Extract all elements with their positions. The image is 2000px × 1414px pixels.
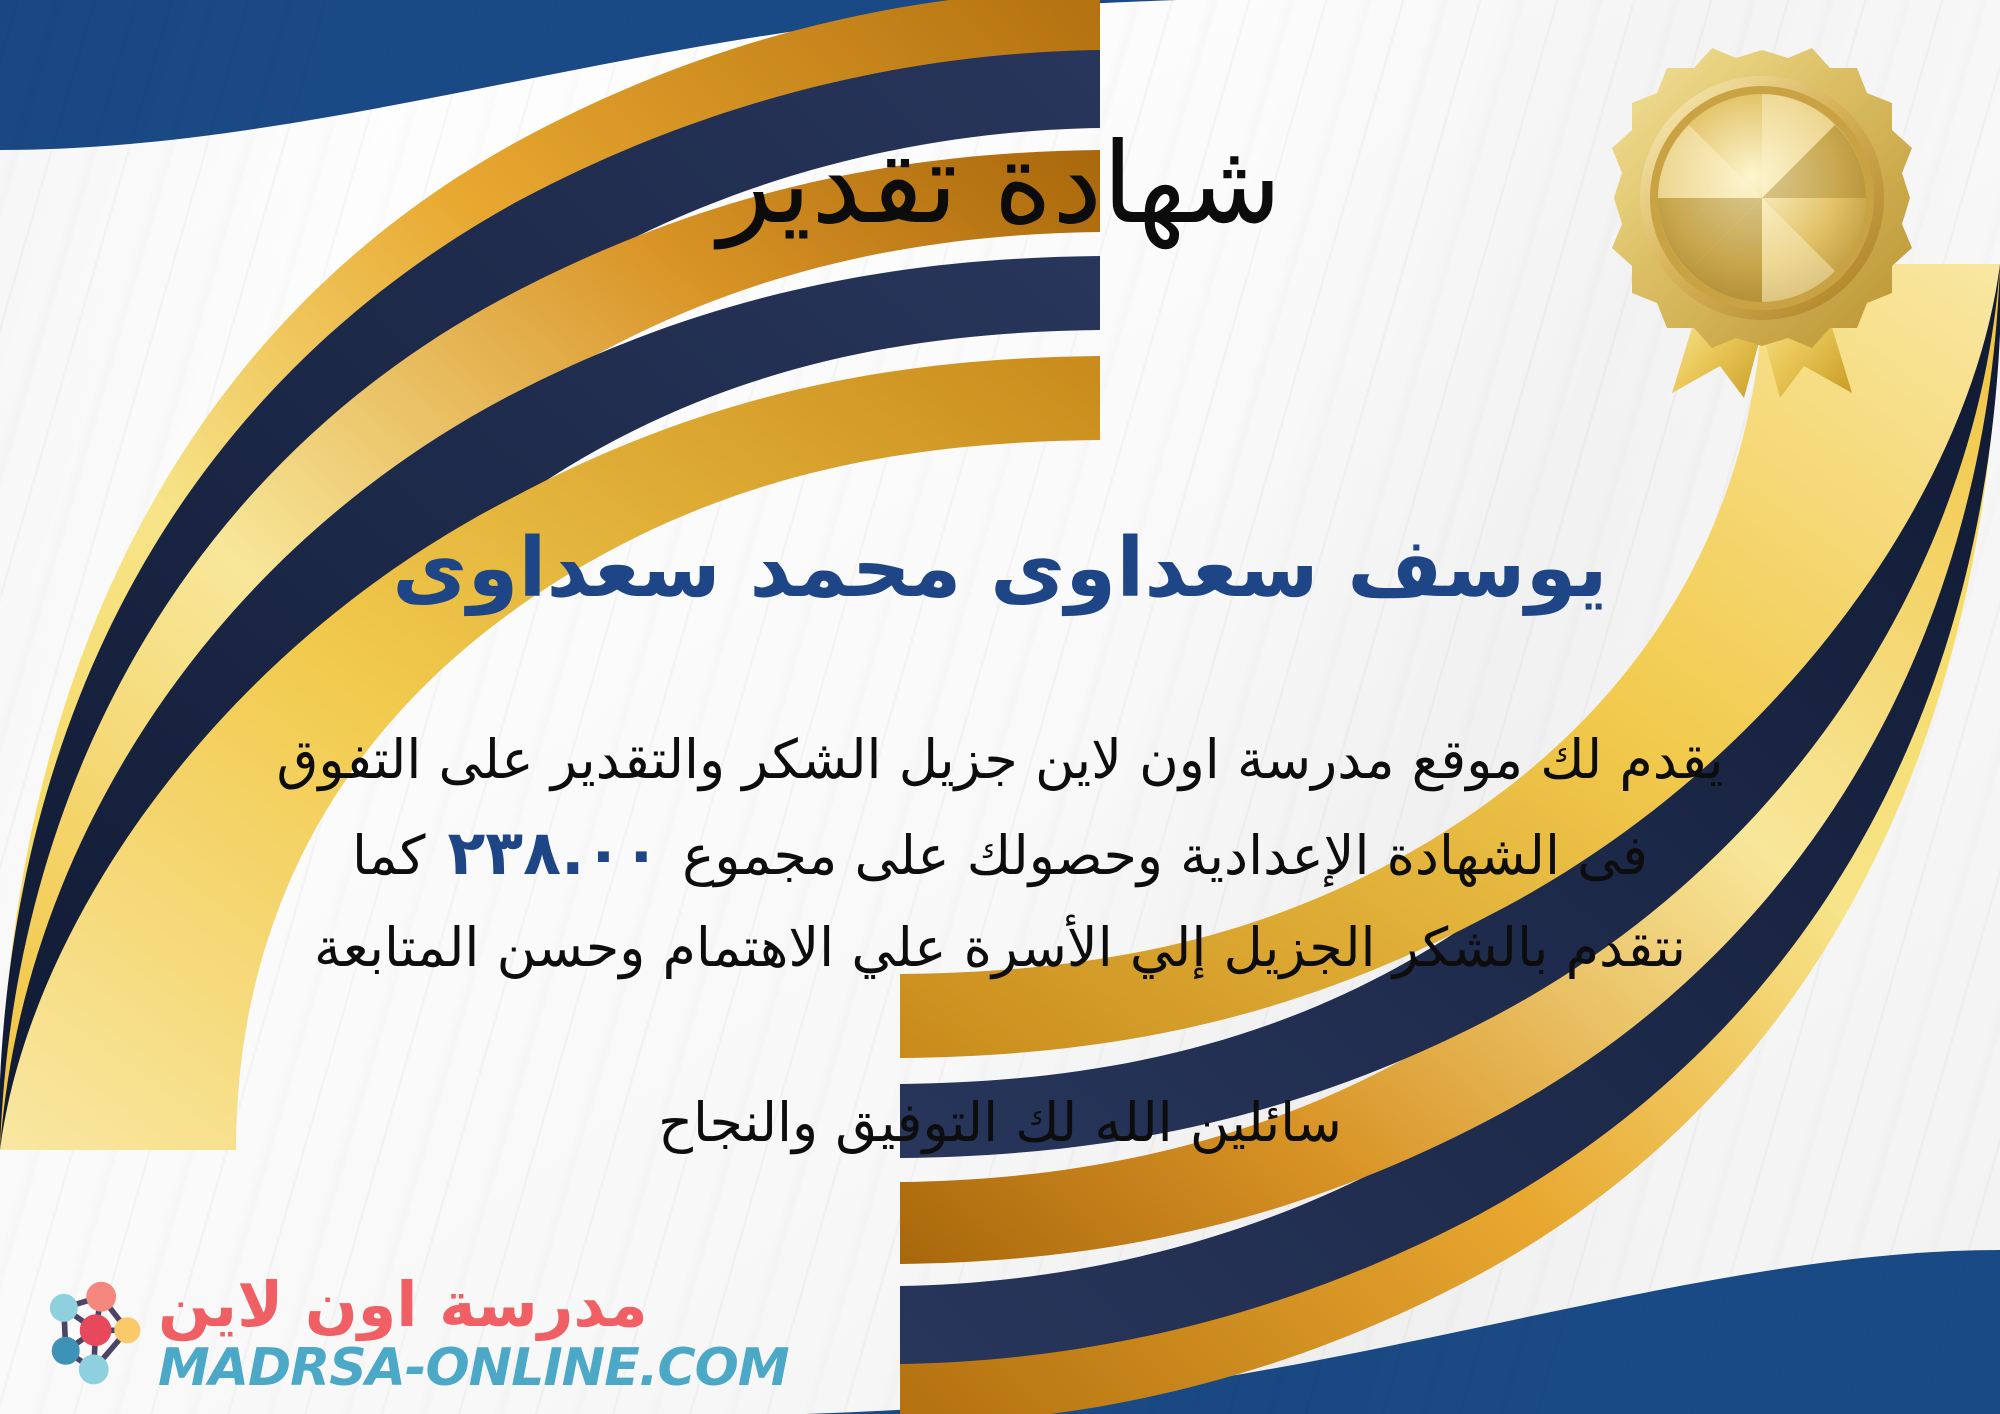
body-line-3: نتقدم بالشكر الجزيل إلي الأسرة علي الاهت… — [60, 904, 1940, 991]
gold-rosette-medal-icon — [1612, 48, 1912, 398]
body-line-1: يقدم لك موقع مدرسة اون لاين جزيل الشكر و… — [60, 716, 1940, 803]
brand-name-arabic: مدرسة اون لاين — [158, 1274, 648, 1336]
body-line-2: فى الشهادة الإعدادية وحصولك على مجموع٢٣٨… — [60, 803, 1940, 903]
brand-logo[interactable]: مدرسة اون لاين MADRSA-ONLINE.COM — [34, 1274, 789, 1394]
brand-wordmark: مدرسة اون لاين MADRSA-ONLINE.COM — [158, 1274, 789, 1394]
body-text: يقدم لك موقع مدرسة اون لاين جزيل الشكر و… — [60, 716, 1940, 991]
body-line-2-suffix: كما — [352, 824, 425, 887]
network-nodes-icon — [34, 1278, 146, 1390]
certificate-canvas: شهادة تقدير يوسف سعداوى محمد سعداوى يقدم… — [0, 0, 2000, 1414]
brand-website: MADRSA-ONLINE.COM — [158, 1342, 789, 1394]
recipient-name: يوسف سعداوى محمد سعداوى — [0, 520, 2000, 618]
score-value: ٢٣٨.٠٠ — [425, 816, 682, 889]
closing-line: سائلين الله لك التوفيق والنجاح — [0, 1085, 2000, 1161]
body-line-2-prefix: فى الشهادة الإعدادية وحصولك على مجموع — [682, 824, 1648, 887]
